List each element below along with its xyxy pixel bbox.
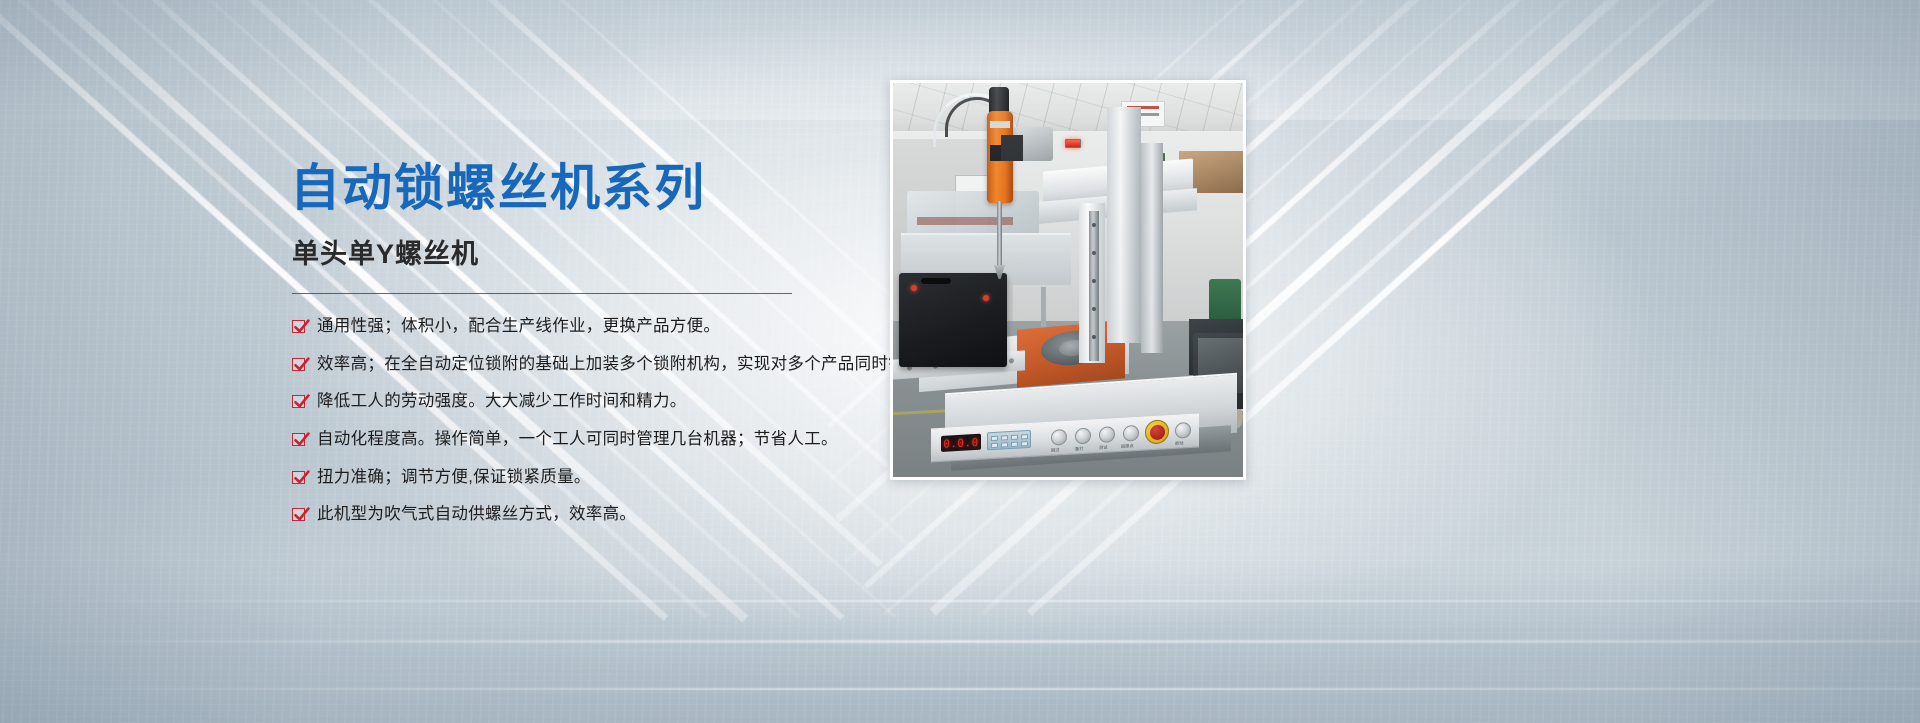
feature-item: 降低工人的劳动强度。大大减少工作时间和精力。 — [292, 391, 910, 412]
feature-item: 效率高；在全自动定位锁附的基础上加装多个锁附机构，实现对多个产品同时锁附。 — [292, 354, 910, 375]
feature-list: 通用性强；体积小，配合生产线作业，更换产品方便。效率高；在全自动定位锁附的基础上… — [290, 316, 910, 525]
feeder-indicator-led — [911, 285, 917, 291]
page-title: 自动锁螺丝机系列 — [290, 160, 910, 216]
machine-screw-feeder-box — [899, 273, 1007, 367]
driver-label-band — [990, 121, 1010, 128]
product-banner: 自动锁螺丝机系列 单头单Y螺丝机 通用性强；体积小，配合生产线作业，更换产品方便… — [0, 0, 1920, 723]
keypad[interactable] — [987, 430, 1031, 450]
feature-text: 此机型为吹气式自动供螺丝方式，效率高。 — [317, 504, 636, 525]
button-start[interactable] — [1175, 422, 1191, 439]
light-streak — [0, 600, 1920, 602]
button-home-label: 回原点 — [1121, 443, 1134, 450]
button-test[interactable] — [1099, 426, 1115, 443]
light-streak — [0, 640, 1920, 643]
rail-bolt — [1092, 279, 1096, 283]
feeder-slot — [921, 278, 951, 284]
button-rework[interactable] — [1075, 428, 1091, 445]
button-skip[interactable] — [1051, 429, 1067, 446]
machine-upright-right — [1141, 143, 1163, 353]
feature-item: 此机型为吹气式自动供螺丝方式，效率高。 — [292, 504, 910, 525]
feature-text: 自动化程度高。操作简单，一个工人可同时管理几台机器；节省人工。 — [317, 429, 838, 450]
counter-display: 0.0.0 — [941, 434, 981, 452]
background-floor — [0, 560, 1920, 723]
emergency-stop-button[interactable] — [1145, 419, 1169, 444]
feature-item: 扭力准确；调节方便,保证锁紧质量。 — [292, 467, 910, 488]
feature-item: 通用性强；体积小，配合生产线作业，更换产品方便。 — [292, 316, 910, 337]
page-subtitle: 单头单Y螺丝机 — [292, 232, 910, 271]
check-icon — [292, 358, 305, 371]
feature-text: 通用性强；体积小，配合生产线作业，更换产品方便。 — [317, 316, 720, 337]
feeder-indicator-led-2 — [983, 295, 989, 301]
button-start-label: 启动 — [1175, 440, 1183, 446]
banner-content: 自动锁螺丝机系列 单头单Y螺丝机 通用性强；体积小，配合生产线作业，更换产品方便… — [290, 160, 910, 542]
check-icon — [292, 320, 305, 333]
feature-text: 降低工人的劳动强度。大大减少工作时间和精力。 — [317, 391, 687, 412]
rail-bolt — [1092, 335, 1096, 339]
light-streak — [0, 688, 1920, 690]
check-icon — [292, 395, 305, 408]
background-wall-right — [1280, 0, 1920, 723]
check-icon — [292, 471, 305, 484]
product-photo: 0.0.0 跳过 重打 测试 回原点 启动 — [890, 80, 1246, 480]
rail-bolt — [1092, 223, 1096, 227]
feature-item: 自动化程度高。操作简单，一个工人可同时管理几台机器；节省人工。 — [292, 429, 910, 450]
power-switch[interactable] — [1065, 139, 1081, 148]
counter-value: 0.0.0 — [943, 435, 979, 450]
button-skip-label: 跳过 — [1051, 447, 1059, 453]
check-icon — [292, 433, 305, 446]
machine-upright-left — [1107, 107, 1141, 343]
rail-bolt — [1092, 251, 1096, 255]
button-test-label: 测试 — [1099, 445, 1107, 451]
feature-text: 效率高；在全自动定位锁附的基础上加装多个锁附机构，实现对多个产品同时锁附。 — [317, 354, 939, 375]
screwdriver-bit — [997, 201, 1002, 267]
panel-bracket — [1001, 135, 1023, 161]
feature-text: 扭力准确；调节方便,保证锁紧质量。 — [317, 467, 591, 488]
rail-bolt — [1092, 307, 1096, 311]
button-home[interactable] — [1123, 425, 1139, 442]
product-photo-canvas: 0.0.0 跳过 重打 测试 回原点 启动 — [893, 83, 1243, 477]
check-icon — [292, 508, 305, 521]
title-divider — [292, 293, 792, 294]
button-rework-label: 重打 — [1075, 446, 1083, 452]
